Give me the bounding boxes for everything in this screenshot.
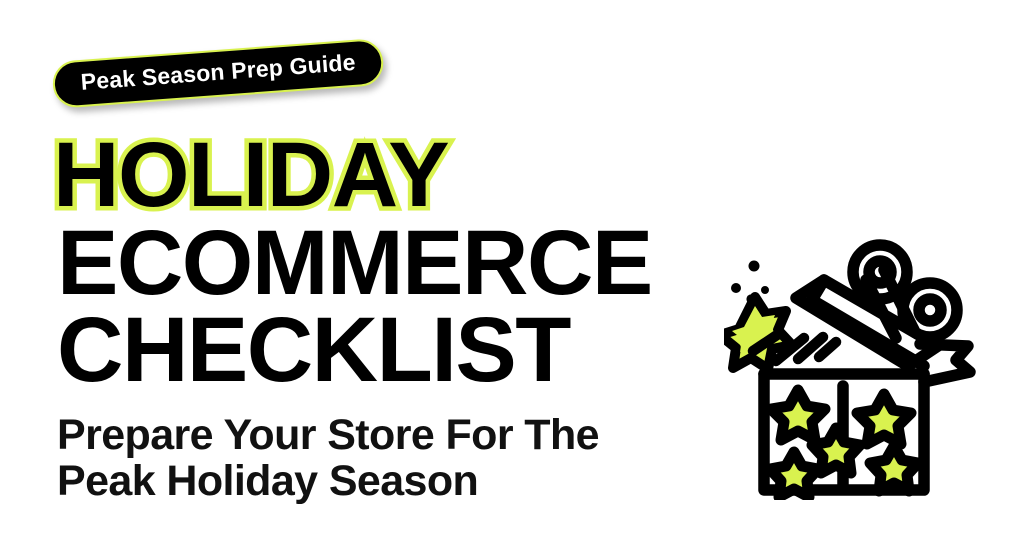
ribbon-bow-loops bbox=[853, 245, 957, 337]
open-gift-box-with-stars-icon bbox=[724, 238, 992, 500]
page-subtitle: Prepare Your Store For The Peak Holiday … bbox=[57, 412, 757, 504]
headline-line-holiday: HOLIDAY bbox=[53, 133, 732, 219]
badge-pill-wrapper: Peak Season Prep Guide bbox=[51, 38, 385, 109]
headline-line-checklist: CHECKLIST bbox=[57, 308, 732, 394]
gift-box-reflection bbox=[744, 492, 972, 558]
subtitle-line-1: Prepare Your Store For The bbox=[57, 412, 757, 458]
poster-canvas: Peak Season Prep Guide HOLIDAY ECOMMERCE… bbox=[0, 0, 1024, 558]
headline-line-ecommerce: ECOMMERCE bbox=[57, 221, 732, 307]
page-title: HOLIDAY ECOMMERCE CHECKLIST bbox=[52, 133, 732, 394]
subtitle-line-2: Peak Holiday Season bbox=[57, 458, 757, 504]
peak-season-prep-guide-badge[interactable]: Peak Season Prep Guide bbox=[51, 38, 385, 109]
badge-label: Peak Season Prep Guide bbox=[80, 51, 356, 94]
